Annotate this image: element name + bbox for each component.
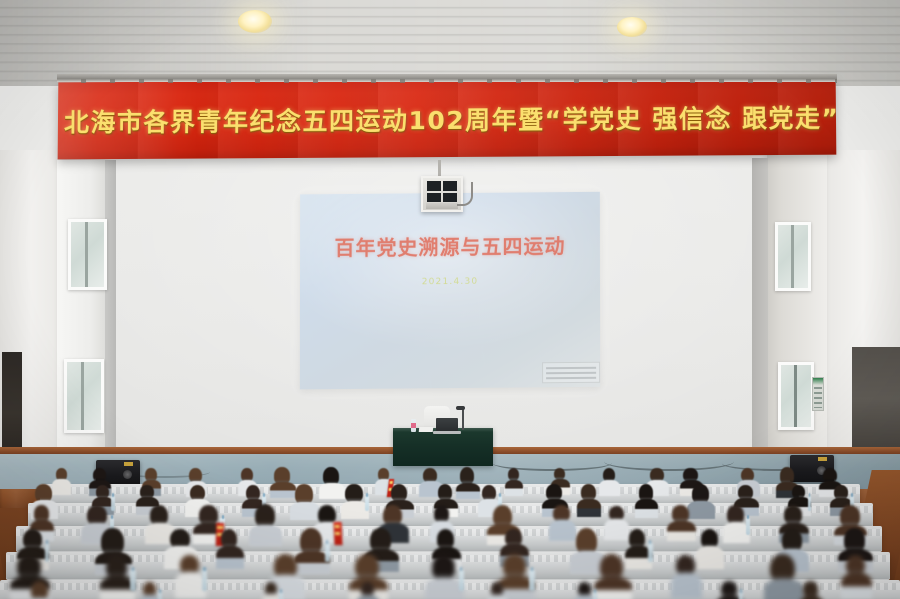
audience-member	[639, 484, 653, 517]
banner-rail	[57, 74, 837, 82]
ceiling-light-icon	[617, 17, 647, 37]
audience-shoulders	[604, 519, 629, 540]
audience-member	[150, 505, 168, 544]
projector-base	[426, 203, 458, 209]
audience-member	[770, 554, 794, 599]
audience-shoulders	[696, 546, 725, 569]
audience-member	[432, 554, 455, 599]
slide-watermark	[542, 362, 600, 384]
audience-member	[553, 505, 570, 540]
audience-shoulders	[671, 573, 702, 598]
exit-sign-icon	[812, 377, 824, 411]
water-bottle-icon	[130, 570, 135, 591]
audience-member	[581, 484, 596, 517]
audience-shoulders	[667, 521, 695, 542]
audience-member	[265, 582, 277, 599]
audience-member	[600, 554, 623, 599]
audience-member	[56, 468, 67, 494]
audience-member	[672, 505, 689, 541]
audience-shoulders	[549, 520, 577, 541]
audience-member	[576, 528, 598, 575]
water-bottle-icon	[529, 570, 534, 591]
audience-shoulders	[319, 483, 345, 499]
wall-panel-right	[852, 347, 900, 451]
water-bottle-icon	[365, 496, 369, 511]
window-upper-left	[68, 219, 107, 290]
right-pillar-return	[752, 158, 768, 485]
audience-shoulders	[270, 482, 296, 498]
window-lower-right	[778, 362, 814, 430]
water-bottle-icon	[808, 496, 812, 511]
audience-member	[603, 468, 615, 496]
audience-member	[508, 468, 519, 495]
audience-member	[345, 484, 362, 519]
stage-cable	[604, 452, 734, 471]
audience-member	[803, 581, 817, 599]
left-pillar-return	[105, 160, 116, 482]
audience-member	[180, 555, 199, 597]
speaker-badge	[818, 457, 827, 461]
audience-member	[106, 554, 127, 599]
window-upper-right	[775, 222, 811, 291]
audience-shoulders	[249, 525, 282, 546]
audience-head	[31, 581, 48, 599]
microphone-icon	[462, 408, 464, 430]
audience-shoulders	[594, 577, 632, 599]
audience-shoulders	[577, 499, 602, 517]
audience-shoulders	[216, 546, 244, 569]
audience-shoulders	[505, 480, 523, 496]
audience-member	[361, 582, 374, 599]
audience-shoulders	[52, 479, 71, 495]
audience-member	[221, 529, 238, 569]
audience-member	[274, 467, 290, 498]
audience-member	[199, 505, 218, 544]
event-banner: 北海市各界青年纪念五四运动102周年暨“学党史 强信念 跟党走”主题团日活动	[58, 78, 837, 160]
water-bottle-icon	[593, 592, 597, 599]
water-bottle-icon	[111, 496, 115, 511]
audience-shoulders	[599, 480, 620, 496]
projector-lens-grid	[427, 181, 457, 202]
slide-title: 百年党史溯源与五四运动	[300, 230, 600, 262]
audience-member	[143, 582, 156, 599]
audience-member	[629, 529, 645, 568]
audience-shoulders	[764, 579, 805, 599]
audience-shoulders	[290, 502, 319, 520]
audience-shoulders	[841, 573, 872, 598]
water-bottle-icon	[325, 543, 330, 562]
papers-icon	[419, 427, 434, 432]
projector-cable	[457, 182, 473, 206]
left-pillar	[57, 160, 105, 482]
water-bottle-icon	[45, 543, 50, 562]
audience-member	[692, 484, 709, 520]
window-lower-left	[64, 359, 104, 433]
audience-member	[676, 555, 695, 599]
audience-member	[323, 467, 339, 500]
audience-member	[846, 555, 864, 599]
projection-screen: 百年党史溯源与五四运动 2021.4.30	[300, 192, 600, 390]
water-bottle-icon	[648, 543, 653, 562]
audience-shoulders	[456, 483, 480, 499]
water-bottle-icon	[202, 570, 207, 591]
audience-member	[727, 505, 743, 543]
water-bottle-icon	[411, 419, 416, 432]
audience-shoulders	[635, 499, 658, 517]
audience-member	[295, 484, 313, 521]
audience-member	[503, 554, 526, 599]
banner-text: 北海市各界青年纪念五四运动102周年暨“学党史 强信念 跟党走”主题团日活动	[58, 98, 836, 139]
audience-member	[578, 582, 592, 599]
water-bottle-icon	[158, 592, 162, 599]
water-bottle-icon	[459, 570, 464, 591]
audience-member	[701, 529, 718, 568]
audience-shoulders	[687, 501, 715, 519]
speaker-badge	[124, 462, 133, 466]
audience-member	[423, 468, 437, 497]
audience-member	[255, 504, 275, 546]
water-bottle-icon	[739, 592, 743, 599]
audience-member	[300, 528, 322, 575]
water-bottle-icon	[279, 592, 283, 599]
auditorium-photo: 北海市各界青年纪念五四运动102周年暨“学党史 强信念 跟党走”主题团日活动 百…	[0, 0, 900, 599]
audience-member	[491, 582, 504, 599]
volunteer-sash	[334, 522, 343, 545]
ceiling-light-icon	[238, 10, 272, 33]
audience-member	[609, 506, 624, 540]
water-bottle-icon	[746, 518, 750, 535]
laptop-icon	[436, 418, 458, 431]
right-pillar	[767, 155, 827, 485]
audience-member	[721, 581, 737, 599]
audience-member	[460, 467, 475, 499]
audience-member	[31, 581, 48, 599]
audience-shoulders	[357, 595, 379, 599]
screen-glow	[300, 192, 600, 390]
